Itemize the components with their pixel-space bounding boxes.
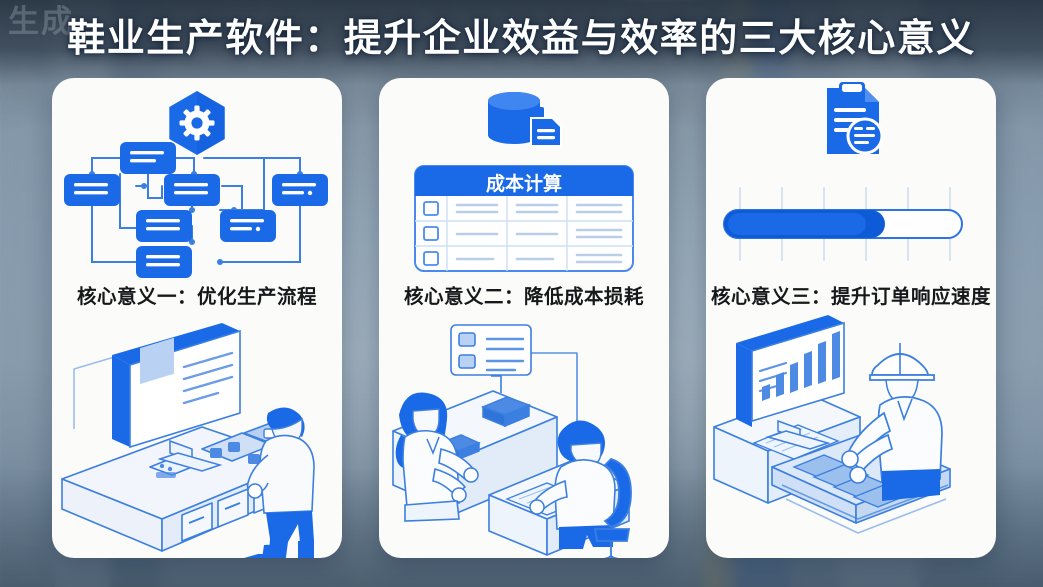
flow-node xyxy=(136,246,192,278)
card2-bottom-illustration xyxy=(379,309,669,558)
flow-node xyxy=(120,142,176,174)
flow-node xyxy=(220,210,276,242)
gear-hexagon-icon xyxy=(169,91,224,155)
card3-caption: 核心意义三：提升订单响应速度 xyxy=(711,280,991,309)
card2-top-illustration: 成本计算 xyxy=(379,78,669,278)
cost-calculation-table: 成本计算 xyxy=(415,166,633,271)
flow-node xyxy=(164,174,220,206)
card2-caption: 核心意义二：降低成本损耗 xyxy=(404,280,644,309)
card-improve-order-response-speed[interactable]: 核心意义三：提升订单响应速度 xyxy=(706,78,996,558)
card1-bottom-illustration xyxy=(52,309,342,558)
table-checkbox xyxy=(424,202,438,265)
card-reduce-cost-loss[interactable]: 成本计算 xyxy=(379,78,669,558)
flow-node xyxy=(136,210,192,242)
database-document-icon xyxy=(488,92,562,147)
clipboard-search-icon xyxy=(827,82,882,154)
progress-bar-indicator xyxy=(724,188,962,260)
cards-row: 核心意义一：优化生产流程 xyxy=(52,78,997,558)
card3-bottom-illustration xyxy=(706,309,996,558)
table-title: 成本计算 xyxy=(486,172,562,195)
card1-top-illustration xyxy=(52,78,342,278)
card3-top-illustration xyxy=(706,78,996,278)
card1-caption: 核心意义一：优化生产流程 xyxy=(77,280,317,309)
flow-node xyxy=(64,174,120,206)
flowchart-diagram xyxy=(64,142,328,278)
card-optimize-production-flow[interactable]: 核心意义一：优化生产流程 xyxy=(52,78,342,558)
slide-title: 鞋业生产软件：提升企业效益与效率的三大核心意义 xyxy=(0,7,1043,62)
flow-node xyxy=(272,174,328,206)
